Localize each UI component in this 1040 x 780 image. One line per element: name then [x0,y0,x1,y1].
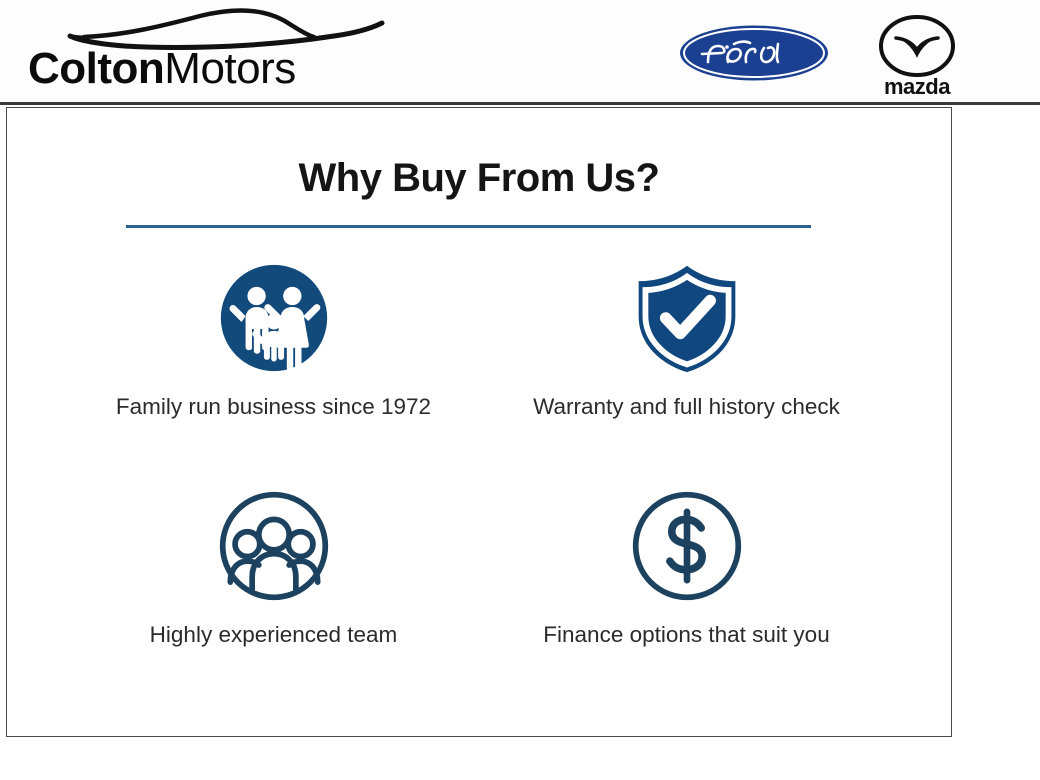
mazda-wordmark: mazda [884,74,951,99]
shield-check-icon [627,258,747,378]
feature-item-family: Family run business since 1972 [67,258,480,486]
ford-oval-logo[interactable] [678,24,830,82]
feature-label: Highly experienced team [114,618,434,651]
brand-name-bold: Colton [28,44,164,93]
family-circle-icon [214,258,334,378]
title-divider [126,225,811,228]
page-title: Why Buy From Us? [7,156,951,201]
mazda-logo[interactable]: mazda [872,14,962,100]
feature-grid: Family run business since 1972 Warranty … [67,258,893,714]
feature-label: Warranty and full history check [527,390,847,423]
feature-label: Family run business since 1972 [114,390,434,423]
page-header: ColtonMotors mazda [0,0,1040,104]
header-divider [0,102,1040,105]
why-buy-card: Why Buy From Us? [6,107,952,737]
dollar-circle-icon [627,486,747,606]
brand-name-light: Motors [164,44,295,93]
feature-item-finance: Finance options that suit you [480,486,893,714]
brand-wordmark: ColtonMotors [28,42,388,96]
feature-item-team: Highly experienced team [67,486,480,714]
people-group-circle-icon [214,486,334,606]
feature-label: Finance options that suit you [527,618,847,651]
feature-item-warranty: Warranty and full history check [480,258,893,486]
colton-motors-logo[interactable]: ColtonMotors [28,6,388,98]
